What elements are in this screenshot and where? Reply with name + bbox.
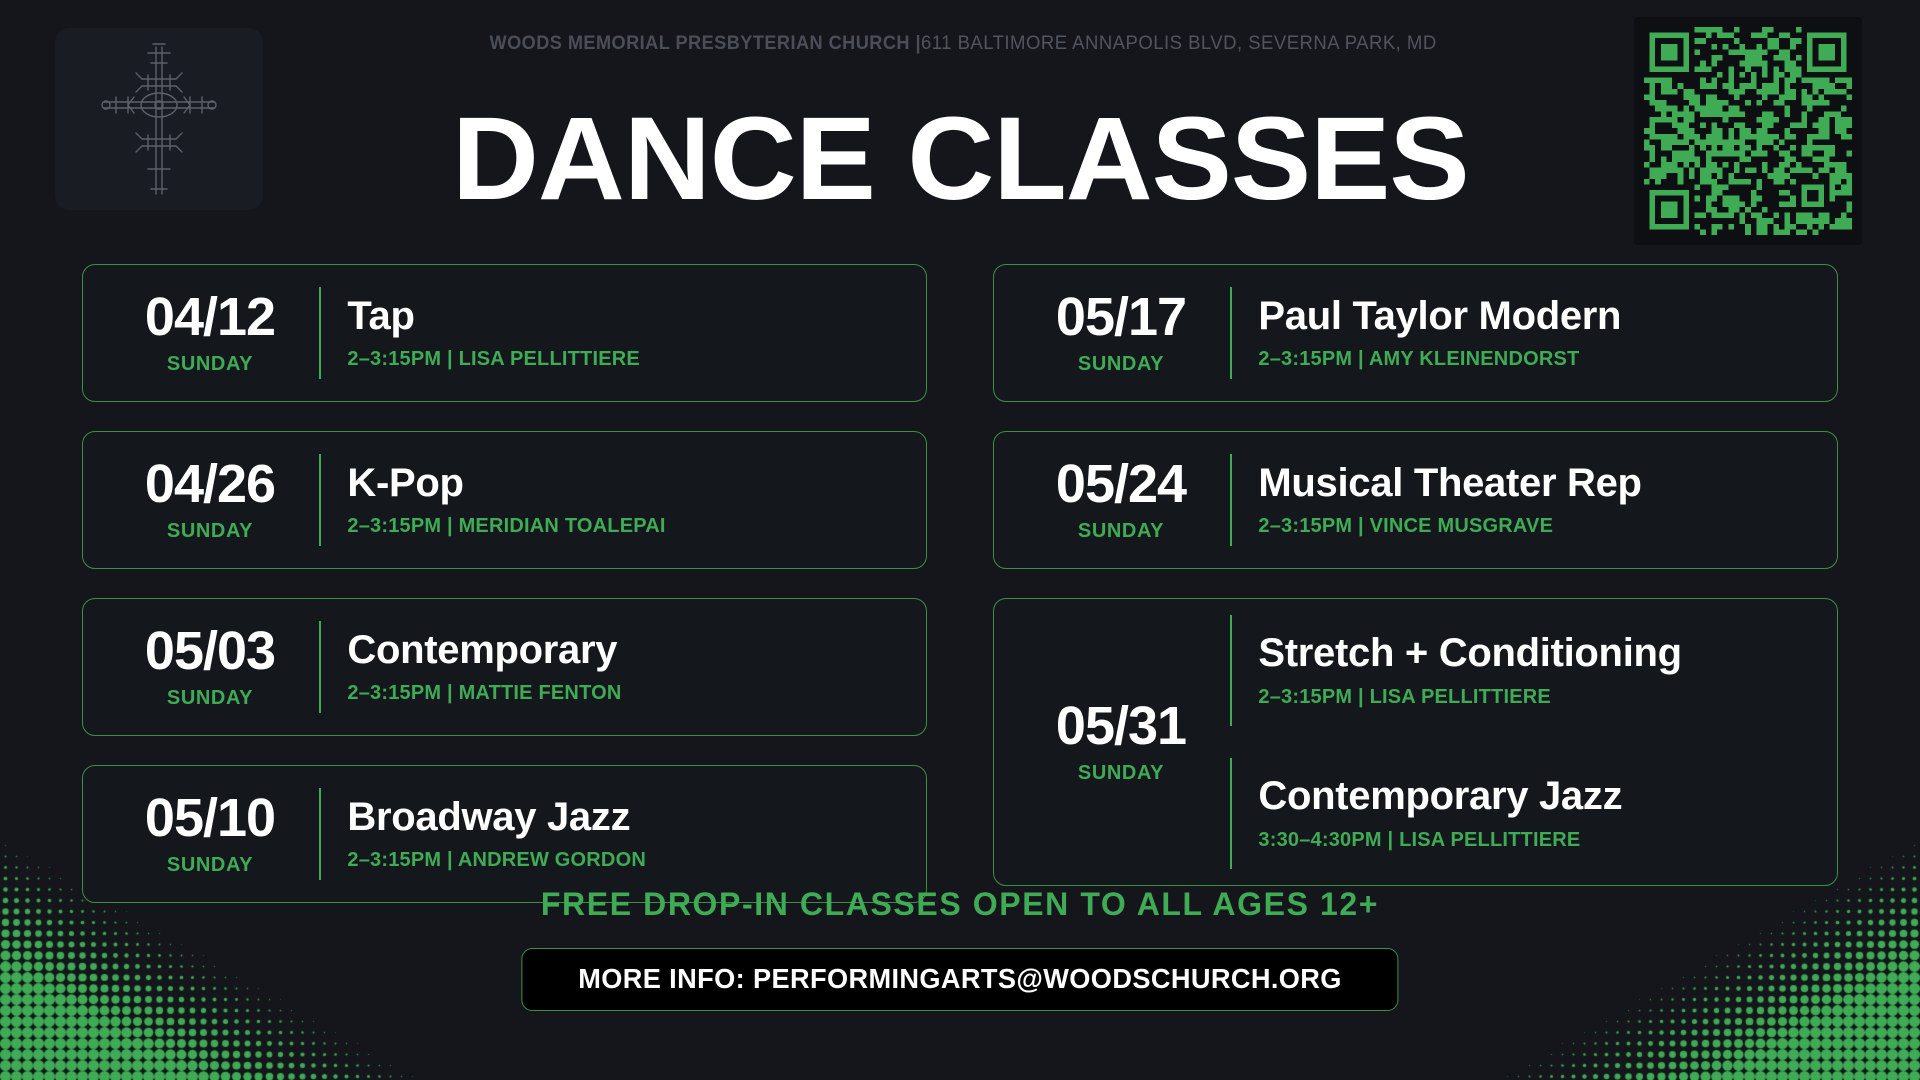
class-day: SUNDAY xyxy=(1078,520,1164,543)
qr-code-icon[interactable] xyxy=(1634,17,1862,245)
class-entry[interactable]: Contemporary Jazz 3:30–4:30PM | LISA PEL… xyxy=(1230,742,1837,885)
class-info-block: Tap 2–3:15PM | LISA PELLITTIERE xyxy=(321,295,926,371)
class-meta: 2–3:15PM | MERIDIAN TOALEPAI xyxy=(347,515,926,538)
class-date: 05/03 xyxy=(145,624,275,678)
class-day: SUNDAY xyxy=(167,520,253,543)
free-classes-notice: FREE DROP-IN CLASSES OPEN TO ALL AGES 12… xyxy=(0,886,1920,923)
page-title-text: DANCE CLASSES xyxy=(452,100,1469,218)
class-name: Contemporary Jazz xyxy=(1258,775,1837,818)
more-info-label: MORE INFO: PERFORMINGARTS@WOODSCHURCH.OR… xyxy=(578,963,1342,995)
class-date: 05/17 xyxy=(1056,290,1186,344)
class-name: Paul Taylor Modern xyxy=(1258,295,1837,338)
class-name: Tap xyxy=(347,295,926,338)
class-date: 04/26 xyxy=(145,457,275,511)
class-card[interactable]: 04/26 SUNDAY K-Pop 2–3:15PM | MERIDIAN T… xyxy=(82,431,927,569)
class-name: K-Pop xyxy=(347,462,926,505)
class-meta: 3:30–4:30PM | LISA PELLITTIERE xyxy=(1258,829,1837,852)
class-info-block: Broadway Jazz 2–3:15PM | ANDREW GORDON xyxy=(321,796,926,872)
church-address: 611 BALTIMORE ANNAPOLIS BLVD, SEVERNA PA… xyxy=(921,32,1437,55)
class-day: SUNDAY xyxy=(1078,762,1164,785)
class-info-block: Musical Theater Rep 2–3:15PM | VINCE MUS… xyxy=(1232,462,1837,538)
class-date: 05/31 xyxy=(1056,699,1186,753)
flyer-footer: FREE DROP-IN CLASSES OPEN TO ALL AGES 12… xyxy=(0,870,1920,1080)
class-info-block: Stretch + Conditioning 2–3:15PM | LISA P… xyxy=(1232,632,1837,708)
class-card[interactable]: 05/03 SUNDAY Contemporary 2–3:15PM | MAT… xyxy=(82,598,927,736)
class-info-block: K-Pop 2–3:15PM | MERIDIAN TOALEPAI xyxy=(321,462,926,538)
class-name: Broadway Jazz xyxy=(347,796,926,839)
class-date-block: 05/24 SUNDAY xyxy=(1012,457,1230,543)
class-date-block: 05/03 SUNDAY xyxy=(101,624,319,710)
church-name: WOODS MEMORIAL PRESBYTERIAN CHURCH | xyxy=(489,32,921,55)
class-date-block: 04/12 SUNDAY xyxy=(101,290,319,376)
class-column-left: 04/12 SUNDAY Tap 2–3:15PM | LISA PELLITT… xyxy=(82,264,927,932)
class-card[interactable]: 05/24 SUNDAY Musical Theater Rep 2–3:15P… xyxy=(993,431,1838,569)
class-schedule-grid: 04/12 SUNDAY Tap 2–3:15PM | LISA PELLITT… xyxy=(0,264,1920,884)
church-info-line: WOODS MEMORIAL PRESBYTERIAN CHURCH | 611… xyxy=(0,32,1920,55)
class-meta: 2–3:15PM | MATTIE FENTON xyxy=(347,682,926,705)
class-card[interactable]: 05/17 SUNDAY Paul Taylor Modern 2–3:15PM… xyxy=(993,264,1838,402)
class-name: Stretch + Conditioning xyxy=(1258,632,1837,675)
class-day: SUNDAY xyxy=(1078,353,1164,376)
class-meta: 2–3:15PM | LISA PELLITTIERE xyxy=(347,348,926,371)
class-meta: 2–3:15PM | ANDREW GORDON xyxy=(347,849,926,872)
more-info-button[interactable]: MORE INFO: PERFORMINGARTS@WOODSCHURCH.OR… xyxy=(521,948,1398,1011)
flyer-header: WOODS MEMORIAL PRESBYTERIAN CHURCH | 611… xyxy=(0,0,1920,248)
class-day: SUNDAY xyxy=(167,687,253,710)
class-meta: 2–3:15PM | LISA PELLITTIERE xyxy=(1258,686,1837,709)
class-date: 05/10 xyxy=(145,791,275,845)
class-column-right: 05/17 SUNDAY Paul Taylor Modern 2–3:15PM… xyxy=(993,264,1838,915)
class-card-double[interactable]: 05/31 SUNDAY Stretch + Conditioning 2–3:… xyxy=(993,598,1838,886)
class-date: 05/24 xyxy=(1056,457,1186,511)
class-meta: 2–3:15PM | AMY KLEINENDORST xyxy=(1258,348,1837,371)
class-entry[interactable]: Stretch + Conditioning 2–3:15PM | LISA P… xyxy=(1230,599,1837,742)
class-info-block: Paul Taylor Modern 2–3:15PM | AMY KLEINE… xyxy=(1232,295,1837,371)
class-day: SUNDAY xyxy=(167,353,253,376)
page-title: DANCE CLASSES xyxy=(0,100,1920,218)
class-date-block: 04/26 SUNDAY xyxy=(101,457,319,543)
class-name: Musical Theater Rep xyxy=(1258,462,1837,505)
class-entries: Stretch + Conditioning 2–3:15PM | LISA P… xyxy=(1230,599,1837,885)
class-date-block: 05/17 SUNDAY xyxy=(1012,290,1230,376)
class-name: Contemporary xyxy=(347,629,926,672)
class-meta: 2–3:15PM | VINCE MUSGRAVE xyxy=(1258,515,1837,538)
class-date: 04/12 xyxy=(145,290,275,344)
class-info-block: Contemporary 2–3:15PM | MATTIE FENTON xyxy=(321,629,926,705)
class-date-block: 05/31 SUNDAY xyxy=(1012,699,1230,785)
class-card[interactable]: 04/12 SUNDAY Tap 2–3:15PM | LISA PELLITT… xyxy=(82,264,927,402)
class-info-block: Contemporary Jazz 3:30–4:30PM | LISA PEL… xyxy=(1232,775,1837,851)
class-date-block: 05/10 SUNDAY xyxy=(101,791,319,877)
